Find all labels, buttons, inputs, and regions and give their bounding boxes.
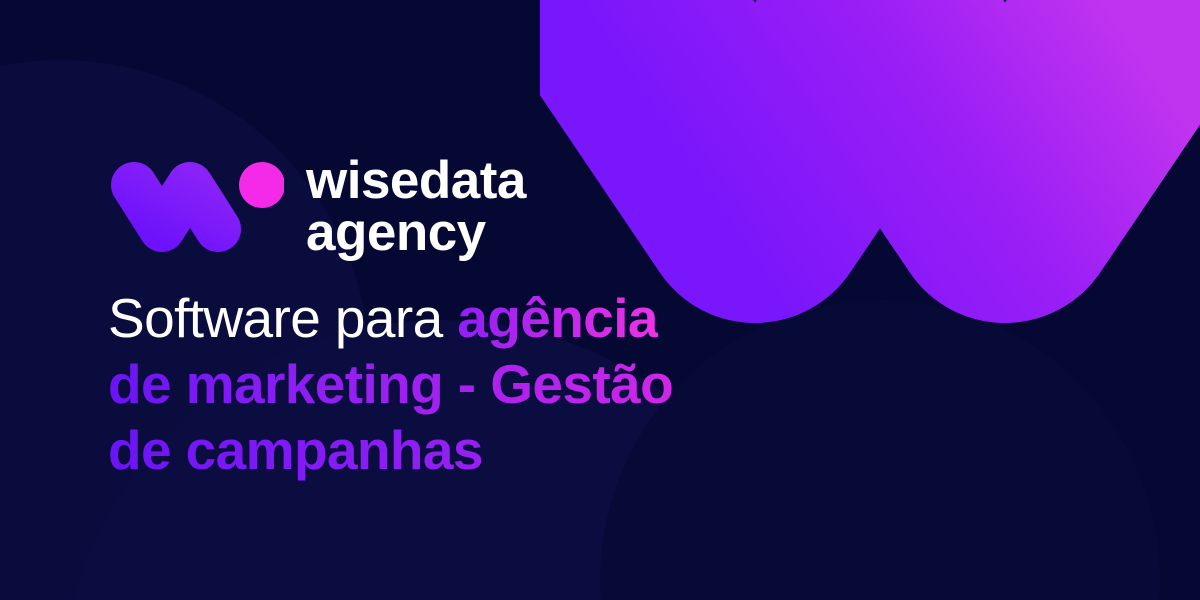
headline-plain-text: Software para [108,287,457,349]
headline-line-2: de marketing - Gestão [108,351,768,417]
brand-wordmark: wisedata agency [306,155,526,259]
wisedata-w-logo-mark-icon [108,159,284,255]
hero-content: wisedata agency Software para agência de… [0,0,1200,483]
headline-line-3: de campanhas [108,417,768,483]
hero-headline: Software para agência de marketing - Ges… [108,285,768,483]
logo-dot [239,162,284,208]
wordmark-line-1: wisedata [306,155,526,207]
brand-logo-lockup[interactable]: wisedata agency [108,155,1200,259]
headline-line-1: Software para agência [108,285,768,351]
banner-hero: wisedata agency Software para agência de… [0,0,1200,600]
wordmark-line-2: agency [306,207,526,259]
headline-accent-agencia: agência [457,287,658,349]
